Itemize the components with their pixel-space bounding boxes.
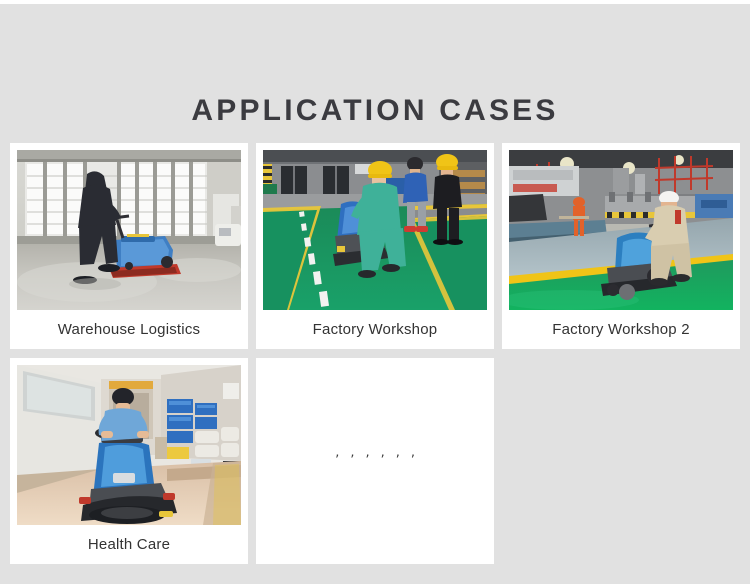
- case-image-factory-workshop-2[interactable]: [509, 150, 733, 310]
- case-image-warehouse-logistics[interactable]: [17, 150, 241, 310]
- case-card-health-care[interactable]: Health Care: [10, 358, 248, 564]
- case-caption-factory-workshop: Factory Workshop: [263, 310, 487, 349]
- placeholder-mark: ’: [411, 455, 415, 468]
- case-caption-health-care: Health Care: [17, 525, 241, 564]
- application-cases-page: APPLICATION CASES: [0, 0, 750, 584]
- case-card-factory-workshop[interactable]: Factory Workshop: [256, 143, 494, 349]
- placeholder-mark: ’: [335, 455, 339, 468]
- case-card-factory-workshop-2[interactable]: Factory Workshop 2: [502, 143, 740, 349]
- case-caption-factory-workshop-2: Factory Workshop 2: [509, 310, 733, 349]
- factory-workshop-illustration: [263, 150, 487, 310]
- placeholder-marks: ’ ’ ’ ’ ’ ’: [256, 455, 494, 468]
- page-title: APPLICATION CASES: [0, 92, 750, 130]
- case-card-empty-slot: [502, 358, 740, 365]
- case-image-health-care[interactable]: [17, 365, 241, 525]
- warehouse-logistics-illustration: [17, 150, 241, 310]
- case-caption-warehouse-logistics: Warehouse Logistics: [17, 310, 241, 349]
- case-card-placeholder[interactable]: ’ ’ ’ ’ ’ ’: [256, 358, 494, 564]
- case-card-warehouse-logistics[interactable]: Warehouse Logistics: [10, 143, 248, 349]
- placeholder-mark: ’: [396, 455, 400, 468]
- factory-workshop-2-illustration: [509, 150, 733, 310]
- case-image-factory-workshop[interactable]: [263, 150, 487, 310]
- placeholder-mark: ’: [381, 455, 385, 468]
- health-care-illustration: [17, 365, 241, 525]
- placeholder-mark: ’: [350, 455, 354, 468]
- case-cards-grid: Warehouse Logistics: [10, 143, 740, 564]
- placeholder-mark: ’: [365, 455, 369, 468]
